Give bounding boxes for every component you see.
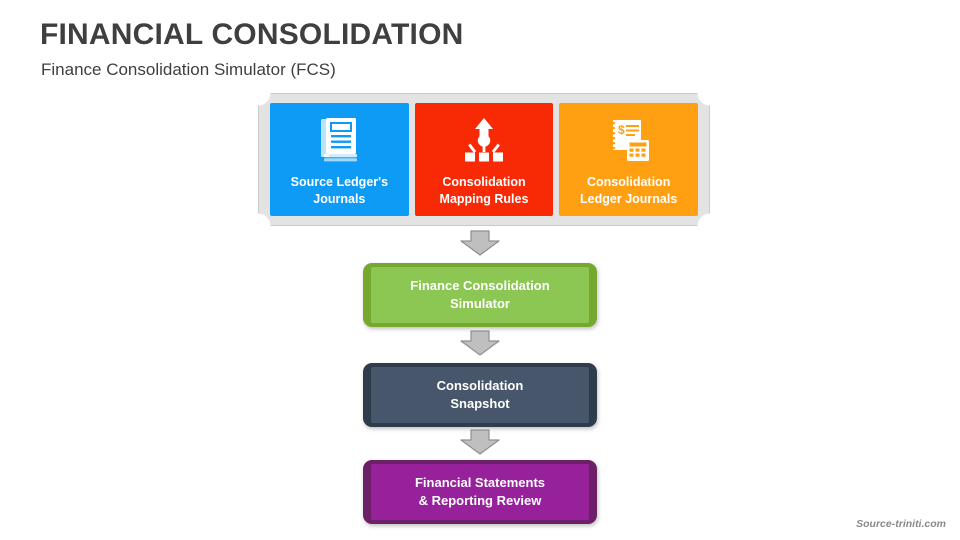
svg-text:$: $ <box>618 123 625 137</box>
notebook-calculator-icon: $ <box>607 113 651 167</box>
flow-box-label: Consolidation Snapshot <box>437 377 524 414</box>
input-card-consolidation-mapping-rules[interactable]: Consolidation Mapping Rules <box>415 103 554 216</box>
page-subtitle: Finance Consolidation Simulator (FCS) <box>41 60 336 80</box>
flow-arrow-down <box>459 330 501 356</box>
input-card-source-ledgers-journals[interactable]: Source Ledger's Journals <box>270 103 409 216</box>
flow-box-finance-consolidation-simulator[interactable]: Finance Consolidation Simulator <box>363 263 597 327</box>
input-card-label: Consolidation Ledger Journals <box>580 174 677 207</box>
flow-box-financial-statements-reporting-review[interactable]: Financial Statements & Reporting Review <box>363 460 597 524</box>
source-watermark: Source-triniti.com <box>856 518 946 530</box>
input-card-label: Source Ledger's Journals <box>291 174 388 207</box>
input-card-consolidation-ledger-journals[interactable]: $ <box>559 103 698 216</box>
flow-box-label: Finance Consolidation Simulator <box>410 277 549 314</box>
ledger-book-icon <box>319 113 359 167</box>
hierarchy-mapping-icon <box>462 113 506 167</box>
flow-box-label: Financial Statements & Reporting Review <box>415 474 545 511</box>
plaque-card-row: Source Ledger's Journals C <box>270 103 698 216</box>
flow-arrow-down <box>459 429 501 455</box>
flow-box-consolidation-snapshot[interactable]: Consolidation Snapshot <box>363 363 597 427</box>
slide-canvas: FINANCIAL CONSOLIDATION Finance Consolid… <box>0 0 960 540</box>
inputs-group-plaque: Source Ledger's Journals C <box>258 93 710 226</box>
flow-arrow-down <box>459 230 501 256</box>
input-card-label: Consolidation Mapping Rules <box>440 174 529 207</box>
page-title: FINANCIAL CONSOLIDATION <box>40 18 463 52</box>
